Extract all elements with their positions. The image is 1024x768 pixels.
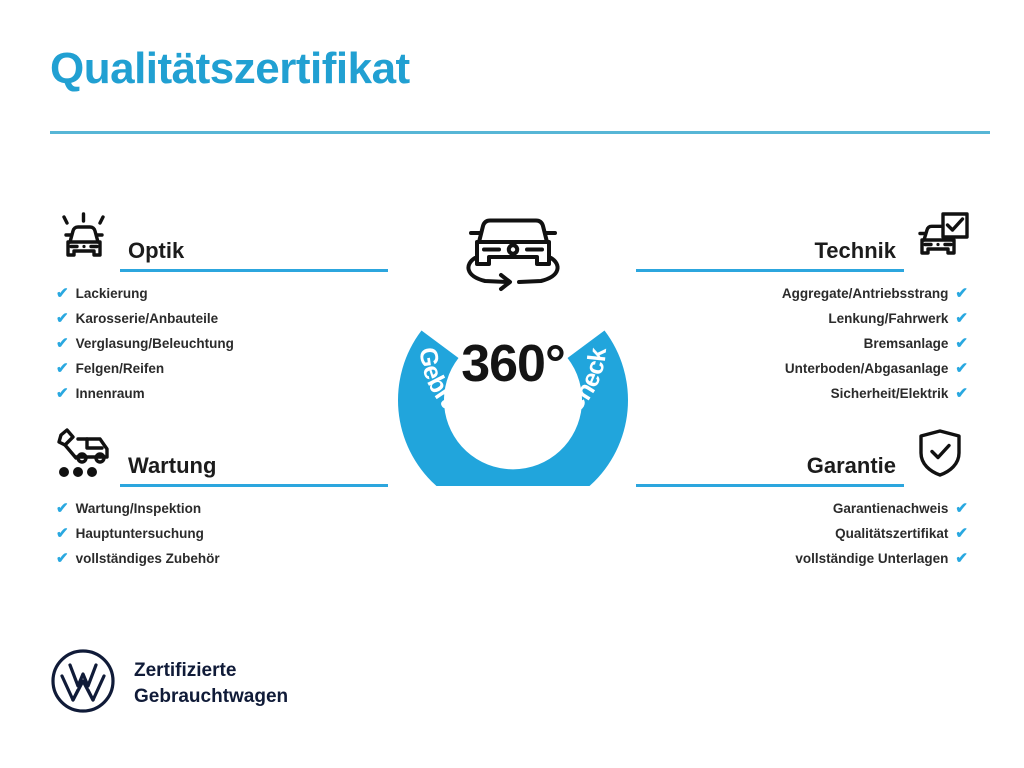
list-item-label: Garantienachweis [833, 502, 949, 516]
shield-check-icon [904, 417, 976, 489]
list-item-label: Felgen/Reifen [76, 362, 165, 376]
list-item: ✔ Verglasung/Beleuchtung [48, 336, 388, 351]
check-icon: ✔ [955, 311, 968, 326]
page-title: Qualitätszertifikat [50, 46, 990, 92]
section-technik-title: Technik [636, 239, 904, 269]
vw-wordmark-line2: Gebrauchtwagen [134, 684, 288, 709]
check-icon: ✔ [955, 286, 968, 301]
section-garantie-titlewrap: Garantie [636, 454, 904, 489]
check-icon: ✔ [56, 311, 69, 326]
list-item: ✔ vollständige Unterlagen [636, 551, 976, 566]
list-item: ✔ Aggregate/Antriebsstrang [636, 286, 976, 301]
list-item-label: Hauptuntersuchung [76, 527, 204, 541]
check-icon: ✔ [955, 526, 968, 541]
vw-logo [50, 648, 116, 719]
section-optik-title: Optik [120, 239, 388, 269]
list-item: ✔ Karosserie/Anbauteile [48, 311, 388, 326]
list-item-label: vollständiges Zubehör [76, 552, 220, 566]
list-item-label: vollständige Unterlagen [795, 552, 948, 566]
section-wartung-header: Wartung [48, 415, 388, 489]
check-icon: ✔ [955, 336, 968, 351]
list-item-label: Wartung/Inspektion [76, 502, 202, 516]
section-technik-header: Technik [636, 200, 976, 274]
list-item: ✔ Wartung/Inspektion [48, 501, 388, 516]
list-item: ✔ Garantienachweis [636, 501, 976, 516]
list-item: ✔ Sicherheit/Elektrik [636, 386, 976, 401]
list-item-label: Bremsanlage [864, 337, 949, 351]
list-item-label: Karosserie/Anbauteile [76, 312, 219, 326]
list-item-label: Aggregate/Antriebsstrang [782, 287, 949, 301]
vw-wordmark-line1: Zertifizierte [134, 658, 288, 683]
section-optik-divider [120, 269, 388, 272]
section-wartung-list: ✔ Wartung/Inspektion ✔ Hauptuntersuchung… [48, 501, 388, 566]
section-wartung-divider [120, 484, 388, 487]
list-item: ✔ vollständiges Zubehör [48, 551, 388, 566]
check-icon: ✔ [56, 286, 69, 301]
list-item: ✔ Hauptuntersuchung [48, 526, 388, 541]
check-icon: ✔ [955, 501, 968, 516]
section-technik: Technik ✔ Aggregate/Antriebsstrang ✔ Len… [636, 200, 976, 411]
section-optik-list: ✔ Lackierung ✔ Karosserie/Anbauteile ✔ V… [48, 286, 388, 401]
check-icon: ✔ [955, 386, 968, 401]
section-garantie: Garantie ✔ Garantienachweis ✔ Qualitätsz… [636, 415, 976, 576]
car-service-pen-icon [48, 417, 120, 489]
check-icon: ✔ [56, 361, 69, 376]
car-shine-icon [48, 202, 120, 274]
list-item-label: Innenraum [76, 387, 145, 401]
list-item: ✔ Lackierung [48, 286, 388, 301]
list-item-label: Sicherheit/Elektrik [831, 387, 949, 401]
header: Qualitätszertifikat [50, 46, 990, 92]
section-technik-divider [636, 269, 904, 272]
section-optik-header: Optik [48, 200, 388, 274]
list-item: ✔ Unterboden/Abgasanlage [636, 361, 976, 376]
check-icon: ✔ [955, 361, 968, 376]
section-technik-list: ✔ Aggregate/Antriebsstrang ✔ Lenkung/Fah… [636, 286, 976, 401]
section-wartung: Wartung ✔ Wartung/Inspektion ✔ Hauptunte… [48, 415, 388, 576]
badge-360-check: Gebrauchtwagen-Check 360° [378, 196, 648, 486]
check-icon: ✔ [56, 501, 69, 516]
list-item-label: Lackierung [76, 287, 148, 301]
car-rotate-icon [468, 221, 557, 290]
section-garantie-list: ✔ Garantienachweis ✔ Qualitätszertifikat… [636, 501, 976, 566]
section-optik-titlewrap: Optik [120, 239, 388, 274]
section-wartung-titlewrap: Wartung [120, 454, 388, 489]
vw-wordmark: Zertifizierte Gebrauchtwagen [134, 658, 288, 708]
section-garantie-divider [636, 484, 904, 487]
check-icon: ✔ [56, 551, 69, 566]
section-garantie-header: Garantie [636, 415, 976, 489]
footer-brand: Zertifizierte Gebrauchtwagen [50, 648, 288, 719]
section-technik-titlewrap: Technik [636, 239, 904, 274]
certificate-page: Qualitätszertifikat Optik [0, 0, 1024, 768]
title-divider [50, 131, 990, 134]
list-item: ✔ Lenkung/Fahrwerk [636, 311, 976, 326]
list-item-label: Lenkung/Fahrwerk [828, 312, 948, 326]
section-optik: Optik ✔ Lackierung ✔ Karosserie/Anbautei… [48, 200, 388, 411]
check-icon: ✔ [955, 551, 968, 566]
section-garantie-title: Garantie [636, 454, 904, 484]
list-item: ✔ Innenraum [48, 386, 388, 401]
car-checkbox-icon [904, 202, 976, 274]
check-icon: ✔ [56, 526, 69, 541]
check-icon: ✔ [56, 336, 69, 351]
list-item: ✔ Qualitätszertifikat [636, 526, 976, 541]
list-item-label: Qualitätszertifikat [835, 527, 948, 541]
list-item-label: Verglasung/Beleuchtung [76, 337, 234, 351]
list-item: ✔ Bremsanlage [636, 336, 976, 351]
list-item: ✔ Felgen/Reifen [48, 361, 388, 376]
list-item-label: Unterboden/Abgasanlage [785, 362, 949, 376]
check-icon: ✔ [56, 386, 69, 401]
section-wartung-title: Wartung [120, 454, 388, 484]
